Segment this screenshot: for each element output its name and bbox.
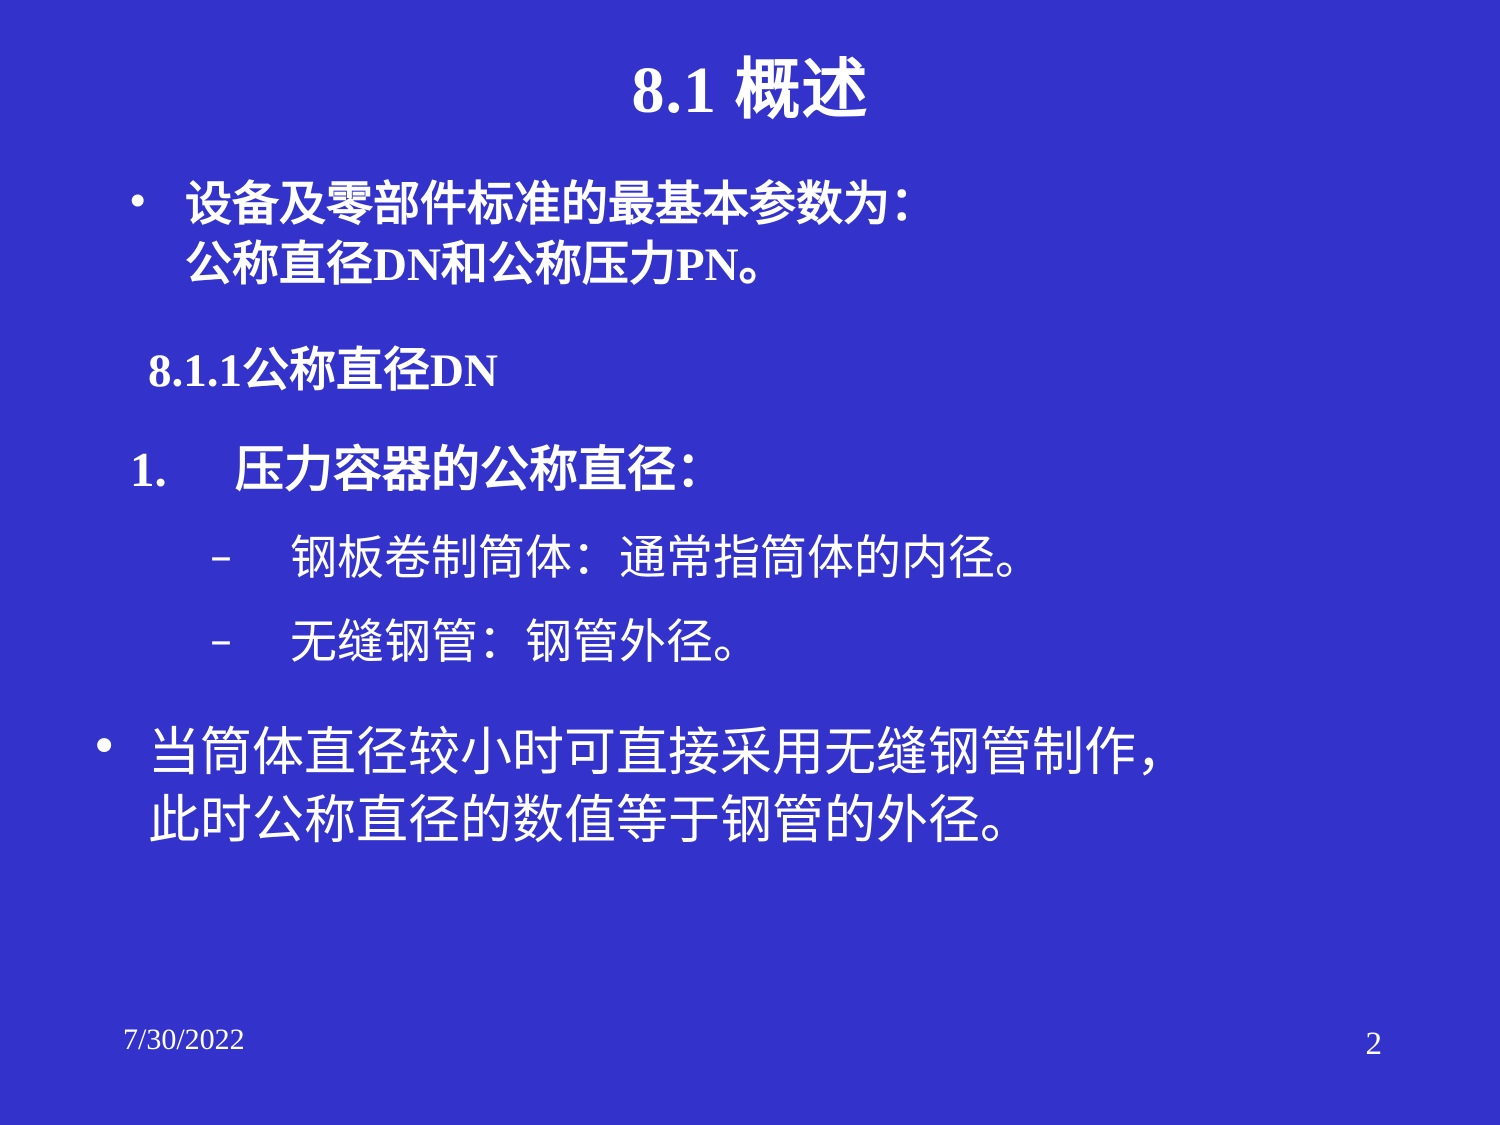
bullet-item-1: • 设备及零部件标准的最基本参数为： 公称直径DN和公称压力PN。: [0, 175, 1500, 295]
bullet-item-1-line-1: 设备及零部件标准的最基本参数为：: [185, 175, 1440, 235]
page-title: 8.1 概述: [0, 58, 1500, 124]
sub-item-2: – 无缝钢管：钢管外径。: [0, 612, 1500, 674]
section-heading-811: 8.1.1公称直径DN: [0, 341, 1500, 402]
sub-item-1: – 钢板卷制筒体：通常指筒体的内径。: [0, 528, 1500, 590]
bullet-icon: •: [90, 716, 118, 778]
numbered-item-1-marker: 1.: [130, 438, 167, 502]
bullet-item-2-line-2: 此时公称直径的数值等于钢管的外径。: [148, 788, 1455, 856]
dash-icon: –: [210, 528, 232, 586]
sub-item-2-label: 无缝钢管：钢管外径。: [290, 615, 760, 670]
spacer: [0, 674, 1500, 720]
bullet-icon: •: [130, 173, 145, 229]
numbered-item-1: 1. 压力容器的公称直径：: [0, 438, 1500, 502]
slide: 8.1 概述 • 设备及零部件标准的最基本参数为： 公称直径DN和公称压力PN。…: [0, 0, 1500, 1125]
bullet-item-2-line-1: 当筒体直径较小时可直接采用无缝钢管制作，: [148, 720, 1455, 788]
sub-item-1-label: 钢板卷制筒体：通常指筒体的内径。: [290, 531, 1042, 586]
dash-icon: –: [210, 612, 232, 670]
bullet-item-1-line-2: 公称直径DN和公称压力PN。: [185, 235, 1440, 295]
numbered-item-1-label: 压力容器的公称直径：: [235, 442, 725, 497]
footer-date: 7/30/2022: [123, 1023, 245, 1057]
spacer: [0, 502, 1500, 528]
slide-body: • 设备及零部件标准的最基本参数为： 公称直径DN和公称压力PN。 8.1.1公…: [0, 175, 1500, 855]
footer-page-number: 2: [1366, 1026, 1383, 1063]
bullet-item-2: • 当筒体直径较小时可直接采用无缝钢管制作， 此时公称直径的数值等于钢管的外径。: [0, 720, 1500, 855]
spacer: [0, 295, 1500, 341]
spacer: [0, 590, 1500, 612]
spacer: [0, 402, 1500, 438]
